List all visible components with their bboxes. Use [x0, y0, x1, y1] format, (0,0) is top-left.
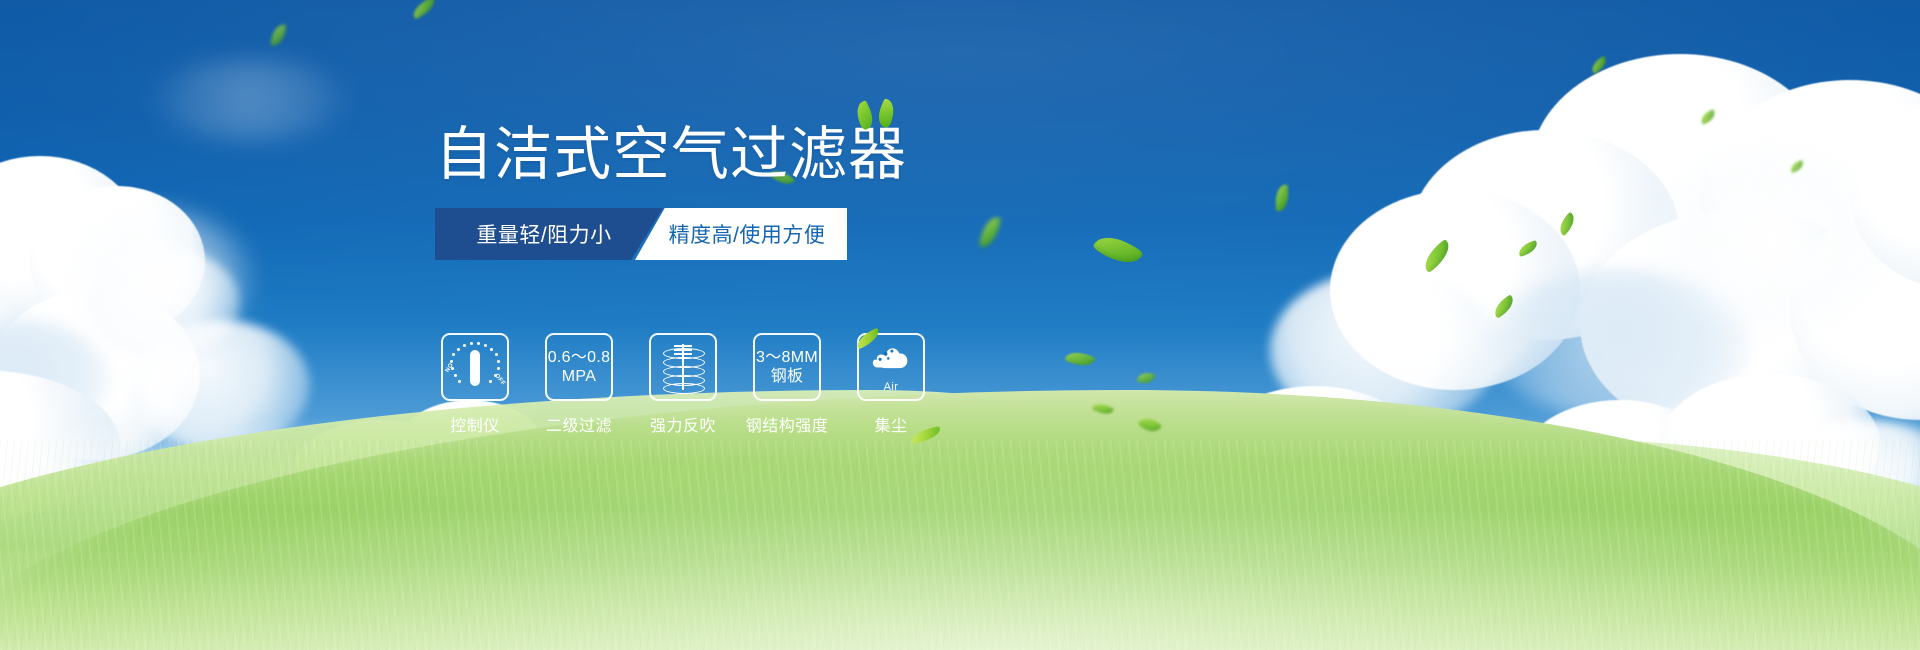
feature-icon-box: 0.6～0.8 MPA [545, 333, 613, 401]
feature-label: 强力反吹 [650, 412, 716, 436]
feature-value-text: 0.6～0.8 MPA [548, 348, 611, 386]
feature-icon-box: 3～8MM 钢板 [753, 333, 821, 401]
page-title: 自洁式空气过滤器 [435, 126, 907, 184]
feature-item-steel[interactable]: 3～8MM 钢板 钢结构强度 [753, 333, 821, 436]
feature-item-blowback[interactable]: 强力反吹 [649, 333, 717, 436]
feature-value-line2: MPA [548, 367, 611, 386]
gauge-icon: NO OFF [446, 341, 504, 393]
feature-icon-box: NO OFF [441, 333, 509, 401]
title-wrap: 自洁式空气过滤器 [435, 126, 907, 184]
feature-item-dust[interactable]: Air 集尘 [857, 333, 925, 436]
feature-value-line2: 钢板 [756, 367, 818, 386]
air-badge-label: Air [863, 381, 919, 393]
feature-label: 二级过滤 [546, 412, 612, 436]
tab-tagline-2[interactable]: 精度高/使用方便 [635, 208, 847, 260]
banner-content: 自洁式空气过滤器 重量轻/阻力小 精度高/使用方便 [435, 126, 1095, 260]
coil-spring-icon [660, 342, 706, 392]
sprout-leaves-icon [855, 100, 901, 130]
feature-value-line1: 0.6～0.8 [548, 348, 611, 367]
feature-item-pressure[interactable]: 0.6～0.8 MPA 二级过滤 [545, 333, 613, 436]
tagline-tabs: 重量轻/阻力小 精度高/使用方便 [435, 208, 835, 260]
feature-value-line1: 3～8MM [756, 348, 818, 367]
air-cloud-icon: Air [863, 342, 919, 392]
feature-icon-box [649, 333, 717, 401]
feature-label: 控制仪 [450, 412, 500, 436]
gauge-tick-off: OFF [493, 373, 506, 387]
feature-label: 钢结构强度 [746, 412, 829, 436]
tab-tagline-1[interactable]: 重量轻/阻力小 [435, 208, 663, 260]
feature-label: 集尘 [874, 412, 907, 436]
feature-list: NO OFF 控制仪 0.6～0.8 MPA 二级过滤 [441, 333, 925, 436]
feature-value-text: 3～8MM 钢板 [756, 348, 818, 386]
feature-icon-box: Air [857, 333, 925, 401]
hero-banner: 自洁式空气过滤器 重量轻/阻力小 精度高/使用方便 [0, 0, 1920, 650]
feature-item-control[interactable]: NO OFF 控制仪 [441, 333, 509, 436]
